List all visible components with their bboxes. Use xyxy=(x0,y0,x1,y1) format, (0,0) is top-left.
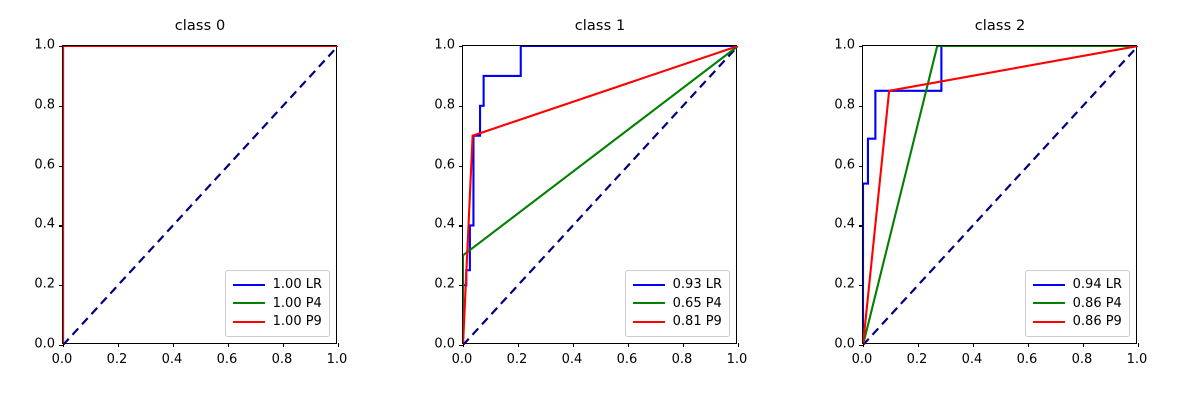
xtick-label: 0.6 xyxy=(997,352,1057,367)
legend-item: 0.93 LR xyxy=(633,276,722,295)
ytick-mark xyxy=(59,46,63,47)
legend-item: 0.94 LR xyxy=(1033,276,1122,295)
xtick-label: 0.8 xyxy=(652,352,712,367)
xtick-label: 0.6 xyxy=(597,352,657,367)
xtick-label: 0.8 xyxy=(252,352,312,367)
legend-line-swatch-icon xyxy=(633,284,665,286)
xtick-mark xyxy=(338,343,339,347)
legend-line-swatch-icon xyxy=(233,284,265,286)
legend-item: 0.86 P4 xyxy=(1033,294,1122,313)
ytick-label: 0.4 xyxy=(0,217,55,232)
legend-line-swatch-icon xyxy=(233,321,265,323)
xtick-label: 0.4 xyxy=(542,352,602,367)
legend: 0.94 LR0.86 P40.86 P9 xyxy=(1025,270,1130,338)
legend: 1.00 LR1.00 P41.00 P9 xyxy=(225,270,330,338)
legend-line-swatch-icon xyxy=(1033,302,1065,304)
xtick-mark xyxy=(1028,343,1029,347)
legend: 0.93 LR0.65 P40.81 P9 xyxy=(625,270,730,338)
legend-label: 0.93 LR xyxy=(673,278,722,291)
legend-item: 1.00 P9 xyxy=(233,313,322,332)
panel-title: class 2 xyxy=(800,18,1200,34)
ytick-mark xyxy=(459,106,463,107)
ytick-label: 0.4 xyxy=(395,217,455,232)
legend-label: 1.00 P4 xyxy=(273,297,322,310)
ytick-label: 0.0 xyxy=(795,337,855,352)
legend-label: 0.86 P4 xyxy=(1073,297,1122,310)
xtick-mark xyxy=(283,343,284,347)
xtick-label: 0.4 xyxy=(142,352,202,367)
legend-label: 0.65 P4 xyxy=(673,297,722,310)
legend-line-swatch-icon xyxy=(233,302,265,304)
legend-label: 0.81 P9 xyxy=(673,315,722,328)
xtick-label: 1.0 xyxy=(707,352,767,367)
xtick-mark xyxy=(228,343,229,347)
xtick-mark xyxy=(863,343,864,347)
legend-label: 1.00 LR xyxy=(273,278,322,291)
ytick-mark xyxy=(459,225,463,226)
ytick-mark xyxy=(59,166,63,167)
ytick-mark xyxy=(59,106,63,107)
ytick-label: 0.8 xyxy=(0,97,55,112)
xtick-mark xyxy=(683,343,684,347)
legend-line-swatch-icon xyxy=(633,302,665,304)
legend-item: 1.00 LR xyxy=(233,276,322,295)
legend-line-swatch-icon xyxy=(633,321,665,323)
ytick-label: 0.6 xyxy=(395,157,455,172)
legend-item: 0.81 P9 xyxy=(633,313,722,332)
ytick-label: 0.8 xyxy=(395,97,455,112)
ytick-label: 0.2 xyxy=(0,277,55,292)
xtick-label: 0.6 xyxy=(197,352,257,367)
ytick-mark xyxy=(59,225,63,226)
ytick-mark xyxy=(459,46,463,47)
xtick-mark xyxy=(1138,343,1139,347)
ytick-label: 0.0 xyxy=(0,337,55,352)
subplot-panel-2: class 20.94 LR0.86 P40.86 P90.00.20.40.6… xyxy=(800,0,1200,400)
legend-label: 0.86 P9 xyxy=(1073,315,1122,328)
legend-item: 0.65 P4 xyxy=(633,294,722,313)
ytick-label: 0.2 xyxy=(395,277,455,292)
xtick-label: 1.0 xyxy=(1107,352,1167,367)
xtick-label: 0.8 xyxy=(1052,352,1112,367)
xtick-mark xyxy=(918,343,919,347)
xtick-mark xyxy=(628,343,629,347)
xtick-label: 0.2 xyxy=(487,352,547,367)
ytick-label: 0.2 xyxy=(795,277,855,292)
xtick-label: 0.0 xyxy=(832,352,892,367)
legend-line-swatch-icon xyxy=(1033,321,1065,323)
ytick-mark xyxy=(859,46,863,47)
ytick-label: 1.0 xyxy=(395,38,455,53)
ytick-label: 1.0 xyxy=(795,38,855,53)
plot-area: 0.93 LR0.65 P40.81 P9 xyxy=(462,45,737,344)
subplot-panel-1: class 10.93 LR0.65 P40.81 P90.00.20.40.6… xyxy=(400,0,800,400)
ytick-mark xyxy=(859,285,863,286)
legend-item: 1.00 P4 xyxy=(233,294,322,313)
xtick-mark xyxy=(173,343,174,347)
xtick-label: 0.2 xyxy=(887,352,947,367)
xtick-label: 1.0 xyxy=(307,352,367,367)
xtick-label: 0.0 xyxy=(32,352,92,367)
ytick-label: 0.8 xyxy=(795,97,855,112)
plot-area: 0.94 LR0.86 P40.86 P9 xyxy=(862,45,1137,344)
xtick-mark xyxy=(973,343,974,347)
ytick-mark xyxy=(459,285,463,286)
ytick-mark xyxy=(59,285,63,286)
xtick-mark xyxy=(463,343,464,347)
ytick-mark xyxy=(859,225,863,226)
subplot-panel-0: class 01.00 LR1.00 P41.00 P90.00.20.40.6… xyxy=(0,0,400,400)
ytick-label: 1.0 xyxy=(0,38,55,53)
xtick-mark xyxy=(63,343,64,347)
ytick-label: 0.6 xyxy=(0,157,55,172)
plot-area: 1.00 LR1.00 P41.00 P9 xyxy=(62,45,337,344)
xtick-mark xyxy=(573,343,574,347)
ytick-label: 0.4 xyxy=(795,217,855,232)
xtick-label: 0.2 xyxy=(87,352,147,367)
ytick-mark xyxy=(859,166,863,167)
ytick-mark xyxy=(859,106,863,107)
ytick-label: 0.6 xyxy=(795,157,855,172)
xtick-label: 0.4 xyxy=(942,352,1002,367)
panel-title: class 0 xyxy=(0,18,400,34)
xtick-mark xyxy=(118,343,119,347)
ytick-label: 0.0 xyxy=(395,337,455,352)
panel-title: class 1 xyxy=(400,18,800,34)
xtick-label: 0.0 xyxy=(432,352,492,367)
roc-curve-figure: class 01.00 LR1.00 P41.00 P90.00.20.40.6… xyxy=(0,0,1200,400)
ytick-mark xyxy=(459,166,463,167)
legend-item: 0.86 P9 xyxy=(1033,313,1122,332)
legend-line-swatch-icon xyxy=(1033,284,1065,286)
legend-label: 1.00 P9 xyxy=(273,315,322,328)
xtick-mark xyxy=(1083,343,1084,347)
xtick-mark xyxy=(738,343,739,347)
xtick-mark xyxy=(518,343,519,347)
legend-label: 0.94 LR xyxy=(1073,278,1122,291)
